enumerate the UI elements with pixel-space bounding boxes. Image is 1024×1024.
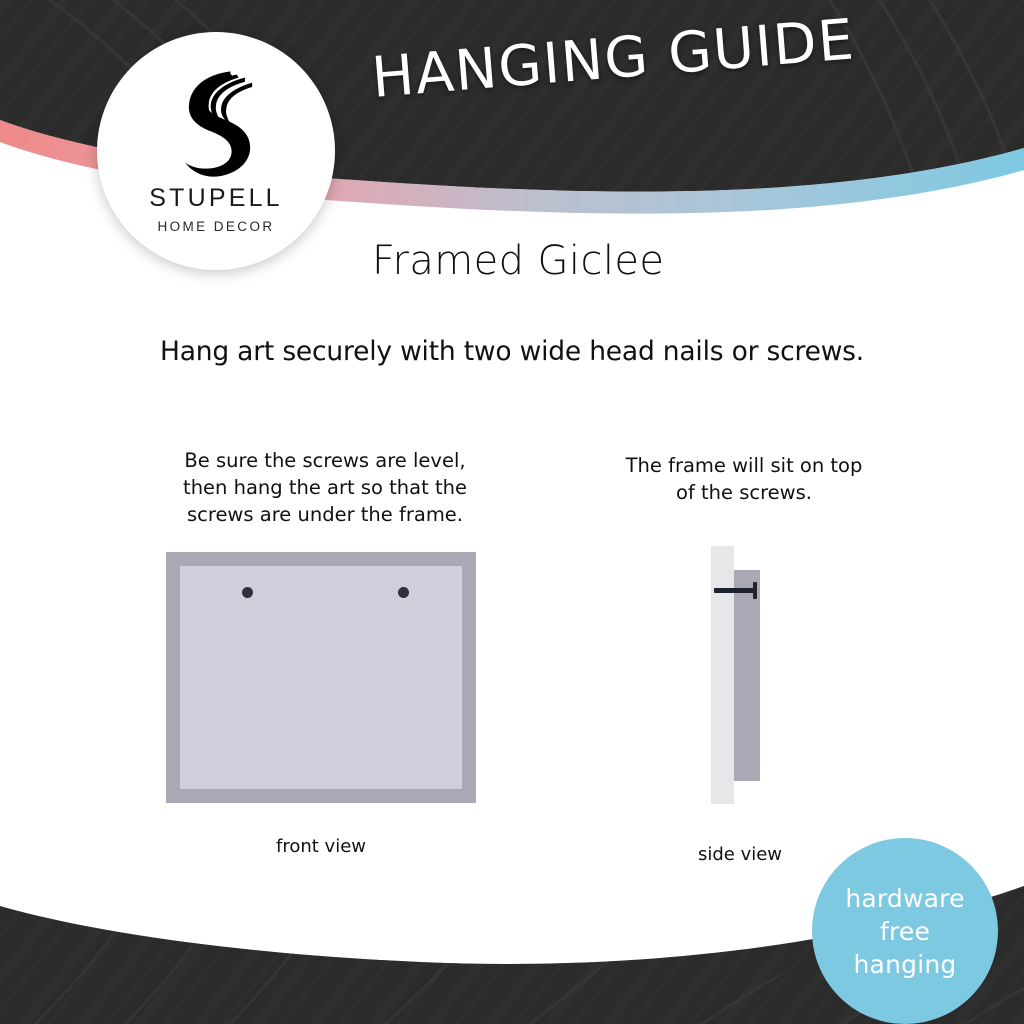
nail-shaft-icon [714,588,756,593]
badge-line-1: hardware [845,882,964,915]
stupell-swoosh-icon [154,58,278,182]
side-view-label: side view [660,844,820,865]
front-caption-line-2: then hang the art so that the [160,474,490,501]
main-instruction-text: Hang art securely with two wide head nai… [0,336,1024,367]
side-caption-line-1: The frame will sit on top [596,452,892,479]
side-caption-line-2: of the screws. [596,479,892,506]
screw-dot-left-icon [242,587,253,598]
front-caption-line-1: Be sure the screws are level, [160,447,490,474]
side-view-caption: The frame will sit on top of the screws. [596,452,892,506]
badge-line-3: hanging [854,948,957,981]
hanging-guide-page: STUPELL HOME DECOR HANGING GUIDE Framed … [0,0,1024,1024]
side-view-diagram [705,546,775,804]
wall-strip [711,546,734,804]
front-view-art-panel [180,566,462,789]
front-view-caption: Be sure the screws are level, then hang … [160,447,490,528]
front-caption-line-3: screws are under the frame. [160,501,490,528]
hardware-free-hanging-badge: hardware free hanging [812,838,998,1024]
page-title: HANGING GUIDE [369,4,893,110]
front-view-diagram [166,552,476,803]
brand-name: STUPELL [149,186,283,211]
frame-edge-strip [734,570,760,781]
badge-line-2: free [880,915,930,948]
product-type-title: Framed Giclee [372,238,664,284]
screw-dot-right-icon [398,587,409,598]
nail-head-icon [753,582,757,599]
front-view-label: front view [166,836,476,857]
brand-tagline: HOME DECOR [157,220,274,234]
brand-logo-badge: STUPELL HOME DECOR [97,32,335,270]
